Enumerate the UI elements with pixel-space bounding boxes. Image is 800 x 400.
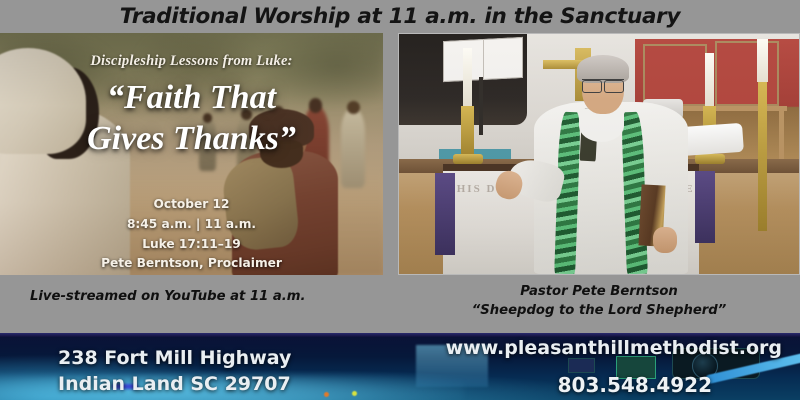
slide-canvas: Traditional Worship at 11 a.m. in the Sa… xyxy=(0,0,800,400)
photo-tint xyxy=(399,34,799,274)
sermon-title: “Faith That Gives Thanks” xyxy=(0,77,383,160)
address-line-2: Indian Land SC 29707 xyxy=(58,371,291,397)
pastor-photo: THIS DO IN REMEMBRANCE OF ME xyxy=(398,33,800,275)
contact-banner: 238 Fort Mill Highway Indian Land SC 297… xyxy=(0,333,800,400)
header-banner: Traditional Worship at 11 a.m. in the Sa… xyxy=(0,0,800,33)
pastor-caption: Pastor Pete Berntson “Sheepdog to the Lo… xyxy=(398,282,800,320)
status-led xyxy=(352,391,357,396)
media-row: Discipleship Lessons from Luke: “Faith T… xyxy=(0,33,800,275)
sanctuary-scene: THIS DO IN REMEMBRANCE OF ME xyxy=(399,34,799,274)
equipment-module xyxy=(568,358,595,373)
sermon-details: October 12 8:45 a.m. | 11 a.m. Luke 17:1… xyxy=(0,195,383,274)
address-line-1: 238 Fort Mill Highway xyxy=(58,345,291,371)
caption-band: Live-streamed on YouTube at 11 a.m. Past… xyxy=(0,275,800,333)
sermon-date: October 12 xyxy=(0,195,383,215)
livestream-caption: Live-streamed on YouTube at 11 a.m. xyxy=(30,289,306,304)
sermon-times: 8:45 a.m. | 11 a.m. xyxy=(0,215,383,235)
sermon-graphic: Discipleship Lessons from Luke: “Faith T… xyxy=(0,33,383,275)
sermon-series-kicker: Discipleship Lessons from Luke: xyxy=(0,53,383,70)
sermon-title-line-2: Gives Thanks” xyxy=(0,118,383,159)
sermon-proclaimer: Pete Berntson, Proclaimer xyxy=(0,254,383,274)
pastor-tagline: “Sheepdog to the Lord Shepherd” xyxy=(398,301,800,320)
church-phone[interactable]: 803.548.4922 xyxy=(558,373,712,397)
church-address: 238 Fort Mill Highway Indian Land SC 297… xyxy=(58,345,291,397)
sermon-title-line-1: “Faith That xyxy=(0,77,383,118)
sermon-text-overlay: Discipleship Lessons from Luke: “Faith T… xyxy=(0,33,383,275)
sermon-scripture: Luke 17:11–19 xyxy=(0,235,383,255)
church-website[interactable]: www.pleasanthillmethodist.org xyxy=(446,337,782,359)
pastor-name: Pastor Pete Berntson xyxy=(398,282,800,301)
page-title: Traditional Worship at 11 a.m. in the Sa… xyxy=(120,4,680,29)
